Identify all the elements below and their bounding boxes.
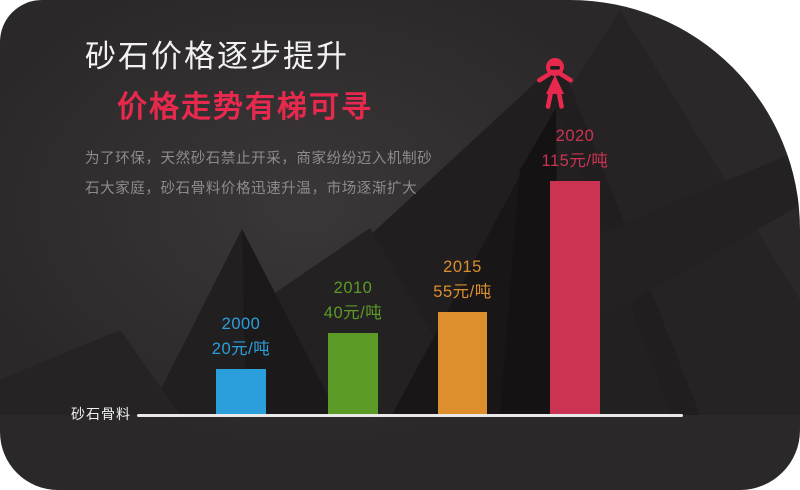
bar-chart-plot-area: 200020元/吨201040元/吨201555元/吨2020115元/吨 bbox=[0, 0, 800, 415]
infographic-canvas: 砂石价格逐步提升 价格走势有梯可寻 为了环保，天然砂石禁止开采，商家纷纷迈入机制… bbox=[0, 0, 800, 490]
bar-2020 bbox=[550, 181, 600, 415]
bar-2000 bbox=[216, 369, 266, 415]
bar-value-label: 55元/吨 bbox=[393, 280, 533, 305]
axis-baseline bbox=[137, 414, 683, 417]
person-left-arm bbox=[536, 71, 552, 83]
bar-caption-2020: 2020115元/吨 bbox=[505, 124, 645, 174]
person-right-arm bbox=[558, 71, 574, 83]
dark-card-panel: 砂石价格逐步提升 价格走势有梯可寻 为了环保，天然砂石禁止开采，商家纷纷迈入机制… bbox=[0, 0, 800, 490]
bar-2010 bbox=[328, 333, 378, 415]
axis-category-label: 砂石骨料 bbox=[71, 404, 131, 424]
person-torso bbox=[546, 75, 564, 94]
bar-year-label: 2015 bbox=[393, 255, 533, 280]
celebrating-person-icon bbox=[531, 56, 579, 112]
bar-value-label: 115元/吨 bbox=[505, 149, 645, 174]
bar-value-label: 20元/吨 bbox=[171, 337, 311, 362]
bar-caption-2015: 201555元/吨 bbox=[393, 255, 533, 305]
bar-2015 bbox=[438, 312, 487, 415]
person-mouth bbox=[550, 66, 560, 70]
bar-year-label: 2020 bbox=[505, 124, 645, 149]
